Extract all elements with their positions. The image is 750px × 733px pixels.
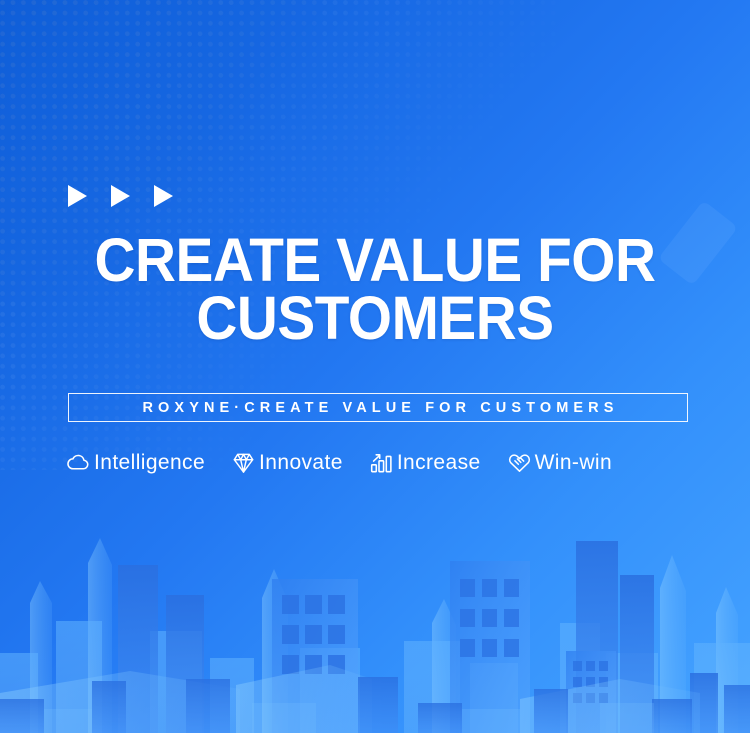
play-triangle-icon <box>111 185 130 207</box>
cloud-icon <box>66 450 91 475</box>
feature-item-win-win: Win-win <box>507 450 612 475</box>
headline-line-1: CREATE VALUE FOR <box>82 231 668 289</box>
arrow-decor-group <box>68 185 173 207</box>
feature-item-increase: Increase <box>369 450 481 475</box>
feature-item-innovate: Innovate <box>231 450 343 475</box>
feature-list: Intelligence Innovate <box>66 450 686 475</box>
feature-item-intelligence: Intelligence <box>66 450 205 475</box>
tagline-box: ROXYNE·CREATE VALUE FOR CUSTOMERS <box>68 393 688 422</box>
bar-chart-growth-icon <box>369 450 394 475</box>
promo-banner: CREATE VALUE FOR CUSTOMERS ROXYNE·CREATE… <box>0 0 750 733</box>
play-triangle-icon <box>154 185 173 207</box>
headline-line-2: CUSTOMERS <box>82 289 668 347</box>
tagline-text: ROXYNE·CREATE VALUE FOR CUSTOMERS <box>137 400 618 416</box>
play-triangle-icon <box>68 185 87 207</box>
diamond-icon <box>231 450 256 475</box>
banner-content: CREATE VALUE FOR CUSTOMERS ROXYNE·CREATE… <box>0 0 750 733</box>
headline: CREATE VALUE FOR CUSTOMERS <box>82 231 668 347</box>
feature-label-intelligence: Intelligence <box>94 451 205 475</box>
feature-label-win-win: Win-win <box>535 451 612 475</box>
feature-label-innovate: Innovate <box>259 451 343 475</box>
feature-label-increase: Increase <box>397 451 481 475</box>
handshake-icon <box>507 450 532 475</box>
